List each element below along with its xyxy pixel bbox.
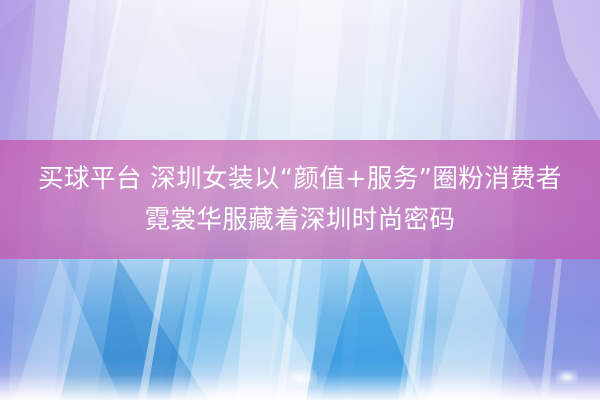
promo-banner: 买球平台 深圳女装以“颜值+服务”圈粉消费者 霓裳华服藏着深圳时尚密码	[0, 0, 600, 400]
caption-line-2: 霓裳华服藏着深圳时尚密码	[145, 200, 456, 241]
bottom-glow-right	[556, 370, 578, 384]
caption-line-1: 买球平台 深圳女装以“颜值+服务”圈粉消费者	[38, 159, 562, 200]
caption-band: 买球平台 深圳女装以“颜值+服务”圈粉消费者 霓裳华服藏着深圳时尚密码	[0, 140, 600, 259]
bottom-glow-center	[283, 370, 317, 386]
